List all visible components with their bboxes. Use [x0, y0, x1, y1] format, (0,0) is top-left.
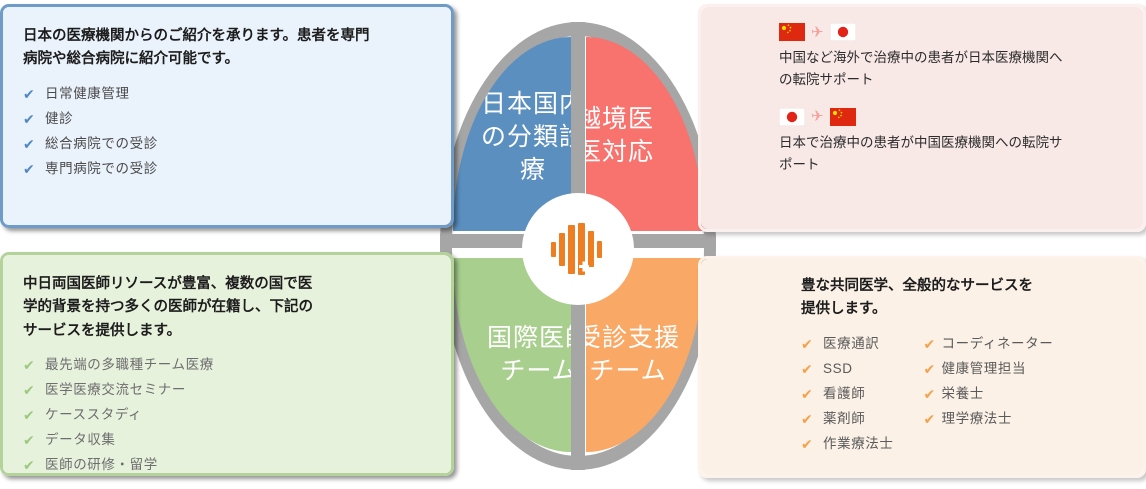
check-icon: ✔: [924, 384, 942, 405]
list-item-label: コーディネーター: [942, 334, 1054, 355]
list-item: ✔作業療法士: [801, 432, 894, 457]
list-item: ✔総合病院での受診: [23, 132, 431, 157]
support-roles-right: ✔コーディネーター ✔健康管理担当 ✔栄養士 ✔理学療法士: [924, 332, 1054, 432]
check-icon: ✔: [801, 434, 823, 455]
airplane-icon: ✈: [811, 25, 824, 40]
list-item-label: 理学療法士: [942, 409, 1013, 430]
card-headline: 中日両国医師リソースが豊富、複数の国で医 学的背景を持つ多くの医師が在籍し、下記…: [23, 273, 431, 343]
check-icon: ✔: [23, 134, 45, 155]
list-item: ✔日常健康管理: [23, 82, 431, 107]
support-roles-columns: ✔医療通訳 ✔SSD ✔看護師 ✔薬剤師 ✔作業療法士 ✔コーディネーター ✔健…: [801, 332, 1123, 457]
check-icon: ✔: [23, 84, 45, 105]
list-item-label: 医療通訳: [823, 334, 879, 355]
list-item-label: 看護師: [823, 384, 865, 405]
domestic-service-list: ✔日常健康管理 ✔健診 ✔総合病院での受診 ✔専門病院での受診: [23, 82, 431, 182]
list-item: ✔栄養士: [924, 382, 1054, 407]
route-flags-jp-to-cn: ✈: [779, 108, 1117, 126]
route-flags-cn-to-jp: ✈: [779, 23, 1117, 41]
list-item-label: 医師の研修・留学: [45, 455, 158, 476]
list-item-label: 総合病院での受診: [45, 134, 158, 155]
quadrant-label: 受診支援 チーム: [586, 322, 680, 388]
jp-flag-icon: [830, 23, 856, 41]
check-icon: ✔: [23, 455, 45, 476]
card-doctor-resources: 中日両国医師リソースが豊富、複数の国で医 学的背景を持つ多くの医師が在籍し、下記…: [0, 252, 454, 476]
check-icon: ✔: [23, 159, 45, 180]
card-cross-border-transfer: ✈ 中国など海外で治療中の患者が日本医療機関へ の転院サポート ✈: [698, 4, 1146, 232]
list-item: ✔健康管理担当: [924, 357, 1054, 382]
medical-bars-logo-icon: [549, 219, 607, 279]
route-description: 日本で治療中の患者が中国医療機関への転院サ ポート: [779, 132, 1117, 177]
list-item-label: 健康管理担当: [942, 359, 1027, 380]
list-item-label: 薬剤師: [823, 409, 865, 430]
list-item: ✔理学療法士: [924, 407, 1054, 432]
list-item: ✔医師の研修・留学: [23, 453, 431, 478]
check-icon: ✔: [23, 430, 45, 451]
check-icon: ✔: [23, 380, 45, 401]
diagram-canvas: 日本国内 の分類診療 越境医 医対応 国際医師 チーム 受診支援 チーム: [0, 0, 1146, 489]
list-item-label: 医学医療交流セミナー: [45, 380, 186, 401]
list-item: ✔コーディネーター: [924, 332, 1054, 357]
route-description: 中国など海外で治療中の患者が日本医療機関へ の転院サポート: [779, 47, 1117, 92]
quadrant-label: 日本国内 の分類診療: [475, 88, 571, 187]
card-headline: 豊な共同医学、全般的なサービスを 提供します。: [801, 275, 1123, 322]
airplane-icon: ✈: [811, 109, 824, 124]
list-item-label: 作業療法士: [823, 434, 894, 455]
list-item: ✔看護師: [801, 382, 894, 407]
list-item: ✔最先端の多職種チーム医療: [23, 353, 431, 378]
cn-flag-icon: [779, 23, 805, 41]
list-item-label: 専門病院での受診: [45, 159, 158, 180]
list-item: ✔薬剤師: [801, 407, 894, 432]
jp-flag-icon: [779, 108, 805, 126]
list-item: ✔ケーススタディ: [23, 403, 431, 428]
quadrant-label: 国際医師 チーム: [487, 322, 571, 388]
list-item-label: ケーススタディ: [45, 405, 142, 426]
center-hub: [522, 193, 634, 305]
check-icon: ✔: [801, 384, 823, 405]
list-item: ✔専門病院での受診: [23, 157, 431, 182]
quadrant-label: 越境医 医対応: [586, 103, 654, 169]
card-domestic-referral: 日本の医療機関からのご紹介を承ります。患者を専門 病院や総合病院に紹介可能です。…: [0, 4, 454, 228]
cn-flag-icon: [830, 108, 856, 126]
list-item-label: SSD: [823, 359, 853, 380]
card-support-services: 豊な共同医学、全般的なサービスを 提供します。 ✔医療通訳 ✔SSD ✔看護師 …: [698, 256, 1146, 478]
support-roles-left: ✔医療通訳 ✔SSD ✔看護師 ✔薬剤師 ✔作業療法士: [801, 332, 894, 457]
check-icon: ✔: [801, 409, 823, 430]
check-icon: ✔: [924, 334, 942, 355]
check-icon: ✔: [801, 334, 823, 355]
check-icon: ✔: [23, 109, 45, 130]
list-item-label: データ収集: [45, 430, 116, 451]
check-icon: ✔: [924, 359, 942, 380]
card-headline: 日本の医療機関からのご紹介を承ります。患者を専門 病院や総合病院に紹介可能です。: [23, 25, 431, 72]
list-item-label: 最先端の多職種チーム医療: [45, 355, 214, 376]
list-item-label: 日常健康管理: [45, 84, 130, 105]
list-item: ✔データ収集: [23, 428, 431, 453]
list-item: ✔医療通訳: [801, 332, 894, 357]
list-item-label: 栄養士: [942, 384, 984, 405]
check-icon: ✔: [23, 355, 45, 376]
check-icon: ✔: [924, 409, 942, 430]
list-item: ✔SSD: [801, 357, 894, 382]
check-icon: ✔: [23, 405, 45, 426]
list-item-label: 健診: [45, 109, 73, 130]
check-icon: ✔: [801, 359, 823, 380]
doctor-service-list: ✔最先端の多職種チーム医療 ✔医学医療交流セミナー ✔ケーススタディ ✔データ収…: [23, 353, 431, 478]
list-item: ✔健診: [23, 107, 431, 132]
list-item: ✔医学医療交流セミナー: [23, 378, 431, 403]
